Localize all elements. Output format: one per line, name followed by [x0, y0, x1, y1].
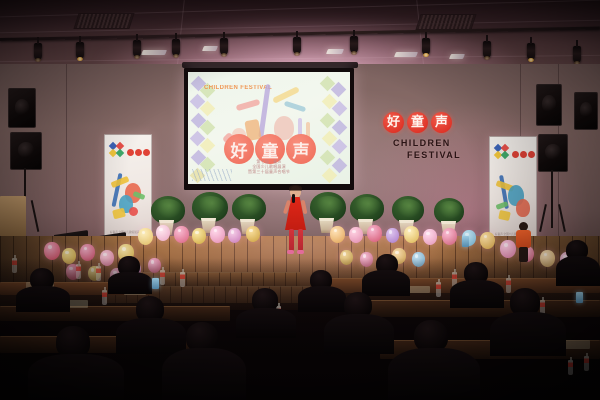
slide-instrument	[236, 99, 261, 111]
slide-instrument	[284, 101, 306, 113]
performer-leg-right	[298, 229, 303, 251]
stage-plant	[392, 196, 424, 223]
balloon	[174, 226, 189, 243]
podium	[0, 196, 26, 236]
balloon	[349, 227, 363, 243]
balloon	[228, 228, 241, 243]
stage-plant	[192, 192, 228, 222]
slide-char-3: 声	[293, 137, 310, 162]
wall-sign-english-line2: FESTIVAL	[407, 149, 491, 161]
wall-sign-characters: 好 童 声	[383, 112, 491, 133]
recessed-panel-light	[394, 52, 418, 57]
balloon	[404, 226, 419, 243]
speaker-on-stand	[10, 132, 42, 170]
balloon	[330, 226, 345, 243]
balloon	[138, 228, 153, 245]
ceiling-vent	[73, 13, 134, 29]
projected-slide: CHILDREN FESTIVAL 好 童 声 第七届 · 童声 全国少儿歌唱展…	[188, 72, 350, 184]
audience-shoulders	[28, 354, 124, 400]
wall-speaker	[536, 84, 562, 126]
audience-shoulders	[490, 312, 566, 356]
wall-speaker	[8, 88, 36, 128]
phone-recording	[152, 278, 159, 289]
balloon	[210, 226, 225, 243]
water-bottle	[180, 272, 185, 287]
water-bottle	[160, 270, 165, 285]
microphone	[292, 194, 295, 203]
performer-shoe-right	[297, 250, 304, 254]
wall-sign-english-line1: CHILDREN	[393, 138, 451, 148]
water-bottle	[568, 360, 573, 375]
balloon	[442, 228, 457, 245]
audience-shoulders	[388, 348, 480, 400]
balloon	[386, 228, 399, 243]
wall-speaker	[574, 92, 598, 130]
wall-sign-english: CHILDREN FESTIVAL	[393, 137, 491, 161]
stage-plant	[232, 194, 266, 222]
performer-girl	[283, 186, 309, 262]
water-bottle	[436, 282, 441, 297]
balloon	[480, 232, 495, 249]
balloon	[500, 240, 516, 258]
banner-left: 好童声 全国少儿歌唱展演	[104, 134, 152, 240]
balloon	[367, 225, 382, 242]
photo-scene: CHILDREN FESTIVAL 好 童 声 第七届 · 童声 全国少儿歌唱展…	[0, 0, 600, 400]
recessed-panel-light	[326, 49, 344, 54]
wall-sign-char-2: 童	[407, 112, 428, 133]
audience-shoulders	[450, 280, 504, 308]
water-bottle	[584, 356, 589, 371]
stage-plant	[434, 198, 464, 224]
recessed-panel-light	[449, 54, 465, 59]
slide-header: CHILDREN FESTIVAL	[204, 84, 272, 92]
slide-char-1: 好	[231, 137, 248, 162]
wall-sign: 好 童 声 CHILDREN FESTIVAL	[383, 112, 491, 164]
water-bottle	[506, 278, 511, 293]
stage-plant	[310, 192, 346, 222]
audience-shoulders	[108, 272, 152, 294]
balloon	[246, 226, 260, 242]
balloon	[156, 225, 170, 241]
recessed-panel-light	[202, 46, 218, 51]
child-shirt	[516, 230, 531, 248]
stage-plant	[350, 194, 384, 222]
slide-char-2: 童	[262, 137, 279, 162]
water-bottle	[12, 258, 17, 273]
performer-leg-left	[289, 229, 294, 251]
speaker-on-stand	[538, 134, 568, 172]
stage-plant	[151, 196, 185, 224]
water-bottle	[96, 266, 101, 281]
projection-screen: CHILDREN FESTIVAL 好 童 声 第七届 · 童声 全国少儿歌唱展…	[184, 68, 354, 190]
water-bottle	[76, 264, 81, 279]
audience-shoulders	[162, 348, 246, 400]
phone-recording	[462, 236, 469, 247]
audience-shoulders	[16, 286, 70, 312]
ceiling-vent	[415, 14, 476, 30]
performer-shoe-left	[287, 250, 294, 254]
phone-recording	[576, 292, 583, 303]
audience-shoulders	[298, 286, 346, 312]
water-bottle	[102, 290, 107, 305]
audience-shoulders	[324, 314, 394, 354]
balloon	[423, 229, 437, 245]
speaker-stand	[551, 170, 553, 228]
child-in-orange	[516, 222, 531, 262]
balloon	[192, 228, 206, 244]
audience-shoulders	[362, 270, 410, 296]
audience-shoulders	[236, 308, 296, 338]
wall-sign-char-3: 声	[431, 112, 452, 133]
recessed-panel-light	[141, 50, 167, 55]
audience-shoulders	[116, 318, 186, 354]
slide-hatch-decor	[192, 169, 232, 181]
audience-shoulders	[556, 256, 600, 286]
wall-sign-char-1: 好	[383, 112, 404, 133]
